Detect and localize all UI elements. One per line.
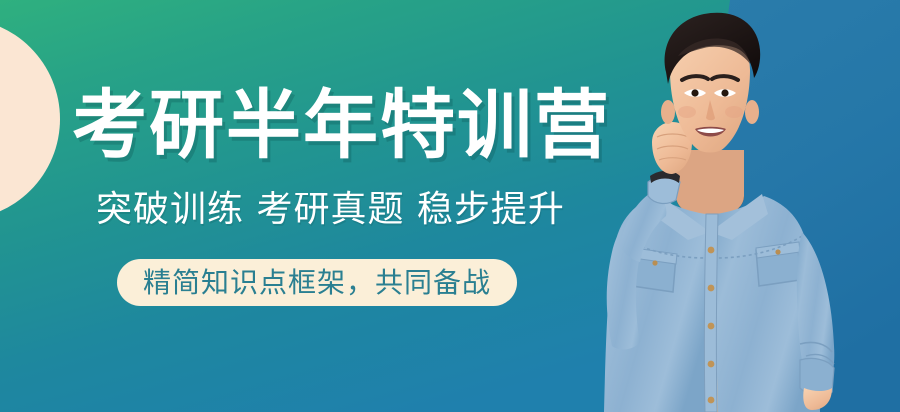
text-content-block: 考研半年特训营 突破训练 考研真题 稳步提升 精简知识点框架，共同备战	[0, 0, 620, 412]
page-title: 考研半年特训营	[72, 88, 611, 163]
tagline-pill: 精简知识点框架，共同备战	[117, 259, 517, 306]
tagline-label: 精简知识点框架，共同备战	[143, 269, 491, 297]
subtitle: 突破训练 考研真题 稳步提升	[96, 192, 565, 228]
promo-banner: 考研半年特训营 突破训练 考研真题 稳步提升 精简知识点框架，共同备战	[0, 0, 900, 412]
